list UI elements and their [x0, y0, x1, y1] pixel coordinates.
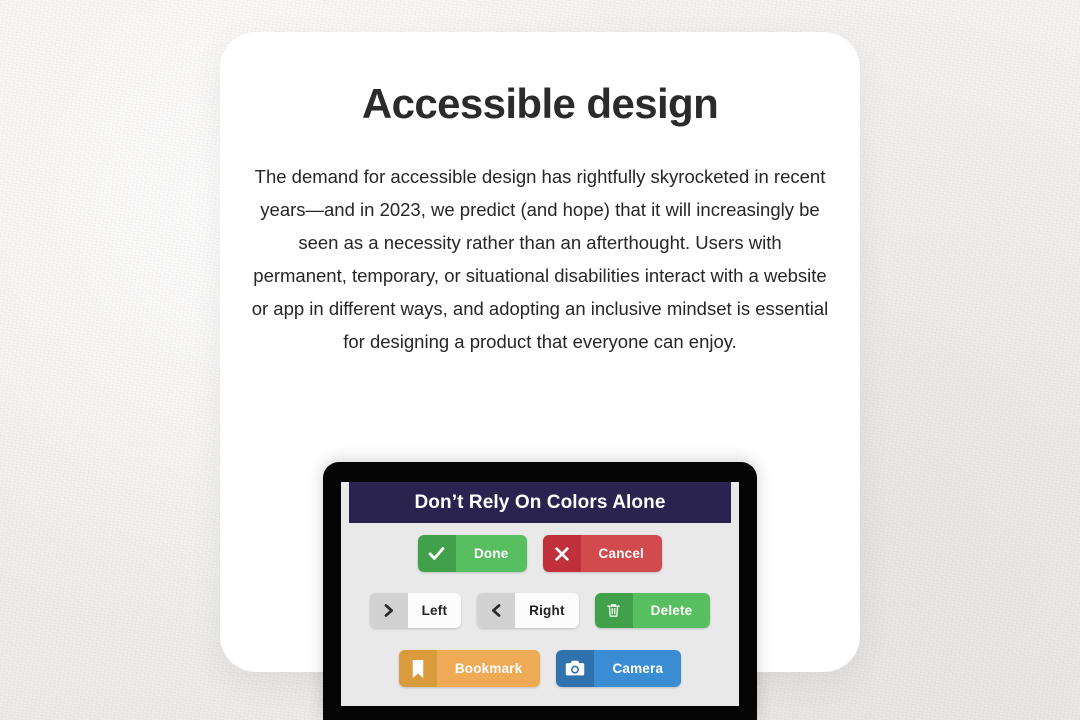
bookmark-button-label: Bookmark — [437, 650, 541, 687]
bookmark-icon — [399, 650, 437, 687]
chevron-left-icon — [477, 593, 515, 628]
chevron-right-icon — [370, 593, 408, 628]
banner: Don’t Rely On Colors Alone — [349, 482, 731, 523]
button-row-1: Done Cancel — [341, 535, 739, 572]
body-paragraph: The demand for accessible design has rig… — [250, 160, 830, 358]
delete-button-label: Delete — [633, 593, 711, 628]
camera-button[interactable]: Camera — [556, 650, 681, 687]
done-button-label: Done — [456, 535, 527, 572]
cancel-button-label: Cancel — [581, 535, 662, 572]
right-button-label: Right — [515, 593, 579, 628]
device-screen: Don’t Rely On Colors Alone Done — [341, 482, 739, 706]
bookmark-button[interactable]: Bookmark — [399, 650, 541, 687]
check-icon — [418, 535, 456, 572]
tablet-device-mockup: Don’t Rely On Colors Alone Done — [323, 462, 757, 720]
button-row-2: Left Right — [341, 593, 739, 628]
button-row-3: Bookmark Camera — [341, 650, 739, 687]
camera-icon — [556, 650, 594, 687]
cancel-button[interactable]: Cancel — [543, 535, 662, 572]
done-button[interactable]: Done — [418, 535, 527, 572]
x-icon — [543, 535, 581, 572]
right-button[interactable]: Right — [477, 593, 579, 628]
left-button-label: Left — [408, 593, 462, 628]
page-title: Accessible design — [220, 80, 860, 128]
trash-icon — [595, 593, 633, 628]
banner-title: Don’t Rely On Colors Alone — [414, 492, 665, 514]
left-button[interactable]: Left — [370, 593, 462, 628]
camera-button-label: Camera — [594, 650, 681, 687]
delete-button[interactable]: Delete — [595, 593, 711, 628]
